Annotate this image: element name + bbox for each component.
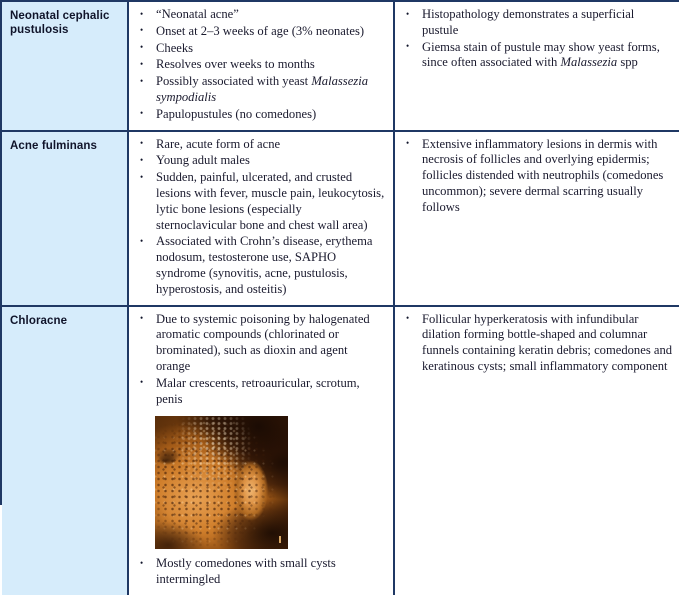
clinical-features-cell: Due to systemic poisoning by halogenated… <box>128 306 394 595</box>
condition-name-cell: Chloracne <box>2 306 128 595</box>
list-item: Due to systemic poisoning by halogenated… <box>135 312 385 375</box>
list-item: Resolves over weeks to months <box>135 57 385 73</box>
acne-variants-table: Neonatal cephalic pustulosis “Neonatal a… <box>2 2 679 595</box>
list-item: Extensive inflammatory lesions in dermis… <box>401 137 673 216</box>
condition-name: Neonatal cephalic pustulosis <box>10 10 109 36</box>
scientific-name: Malassezia <box>561 55 618 69</box>
condition-name-cell: Neonatal cephalic pustulosis <box>2 2 128 131</box>
table-row: Acne fulminans Rare, acute form of acne … <box>2 131 679 306</box>
list-item: Papulopustules (no comedones) <box>135 107 385 123</box>
list-item: Follicular hyperkeratosis with infundibu… <box>401 312 673 375</box>
list-item: Associated with Crohn’s disease, erythem… <box>135 234 385 297</box>
table-row: Chloracne Due to systemic poisoning by h… <box>2 306 679 595</box>
list-item: Mostly comedones with small cysts interm… <box>135 556 385 588</box>
pathology-list: Extensive inflammatory lesions in dermis… <box>401 137 673 216</box>
list-item: Onset at 2–3 weeks of age (3% neonates) <box>135 24 385 40</box>
table-row: Neonatal cephalic pustulosis “Neonatal a… <box>2 2 679 131</box>
list-item: Possibly associated with yeast Malassezi… <box>135 74 385 106</box>
clinical-features-list: Due to systemic poisoning by halogenated… <box>135 312 385 408</box>
pathology-list: Histopathology demonstrates a superficia… <box>401 7 673 71</box>
list-item: Rare, acute form of acne <box>135 137 385 153</box>
list-item: Sudden, painful, ulcerated, and crusted … <box>135 170 385 233</box>
list-item: Giemsa stain of pustule may show yeast f… <box>401 40 673 72</box>
condition-name: Acne fulminans <box>10 140 97 152</box>
list-item: “Neonatal acne” <box>135 7 385 23</box>
clinical-features-list: Rare, acute form of acne Young adult mal… <box>135 137 385 298</box>
pathology-cell: Extensive inflammatory lesions in dermis… <box>394 131 679 306</box>
clinical-photo-block <box>155 416 385 549</box>
list-item: Young adult males <box>135 153 385 169</box>
chloracne-clinical-photo <box>155 416 288 549</box>
pathology-cell: Follicular hyperkeratosis with infundibu… <box>394 306 679 595</box>
clinical-features-cell: “Neonatal acne” Onset at 2–3 weeks of ag… <box>128 2 394 131</box>
condition-name: Chloracne <box>10 315 67 327</box>
list-item: Cheeks <box>135 41 385 57</box>
clinical-features-list: “Neonatal acne” Onset at 2–3 weeks of ag… <box>135 7 385 123</box>
clinical-features-cell: Rare, acute form of acne Young adult mal… <box>128 131 394 306</box>
condition-name-cell: Acne fulminans <box>2 131 128 306</box>
clinical-features-list-continued: Mostly comedones with small cysts interm… <box>135 556 385 588</box>
list-item: Histopathology demonstrates a superficia… <box>401 7 673 39</box>
scientific-name: Malassezia sympodialis <box>156 74 368 104</box>
acne-variants-table-container: Neonatal cephalic pustulosis “Neonatal a… <box>0 0 679 505</box>
list-item: Malar crescents, retroauricular, scrotum… <box>135 376 385 408</box>
pathology-cell: Histopathology demonstrates a superficia… <box>394 2 679 131</box>
pathology-list: Follicular hyperkeratosis with infundibu… <box>401 312 673 375</box>
photo-corner-marker <box>279 536 281 543</box>
photo-vignette <box>155 416 288 549</box>
